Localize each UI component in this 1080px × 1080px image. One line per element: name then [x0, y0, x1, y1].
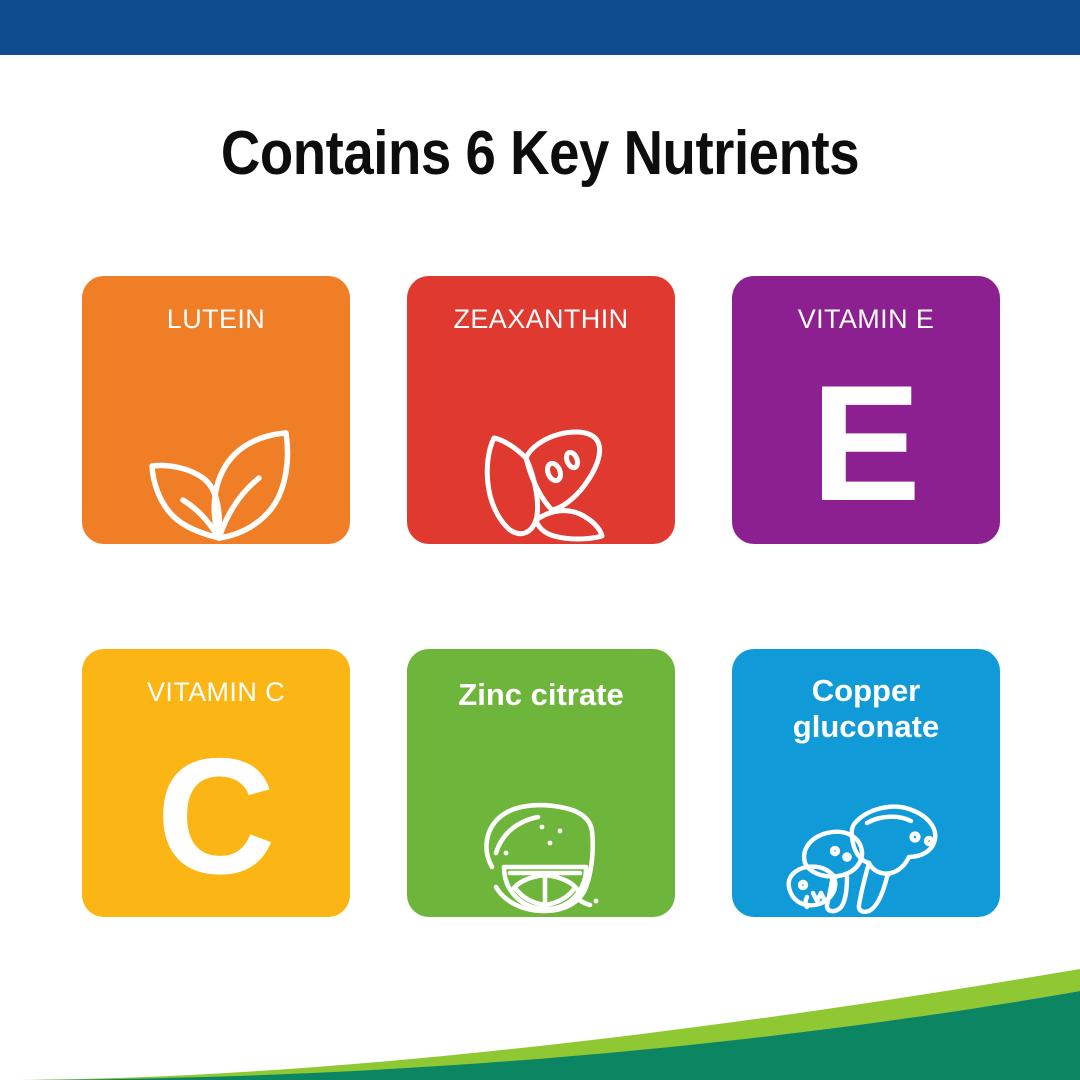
- card-label: VITAMIN C: [82, 677, 350, 708]
- card-label: ZEAXANTHIN: [407, 304, 675, 335]
- nutrient-card-grid: LUTEIN ZEAXANTHIN: [82, 276, 1000, 917]
- infographic-page: Contains 6 Key Nutrients LUTEIN ZEAXANTH…: [0, 0, 1080, 1080]
- top-blue-bar: [0, 0, 1080, 55]
- card-label: VITAMIN E: [732, 304, 1000, 335]
- footer-swoosh: [0, 945, 1080, 1080]
- nutrient-card-zeaxanthin[interactable]: ZEAXANTHIN: [407, 276, 675, 544]
- lemon-slice-icon: [456, 801, 626, 917]
- card-label: Copper gluconate: [732, 673, 1000, 745]
- vitamin-letter: C: [82, 741, 350, 891]
- nutrient-card-lutein[interactable]: LUTEIN: [82, 276, 350, 544]
- nutrient-card-zinc-citrate[interactable]: Zinc citrate: [407, 649, 675, 917]
- card-label: Zinc citrate: [407, 677, 675, 713]
- mushrooms-icon: [781, 801, 951, 917]
- nutrient-card-copper-gluconate[interactable]: Copper gluconate: [732, 649, 1000, 917]
- card-label: LUTEIN: [82, 304, 350, 335]
- page-title: Contains 6 Key Nutrients: [65, 118, 1015, 189]
- leaves-icon: [131, 428, 301, 544]
- paprika-pepper-icon: [456, 428, 626, 544]
- nutrient-card-vitamin-e[interactable]: VITAMIN E E: [732, 276, 1000, 544]
- nutrient-card-vitamin-c[interactable]: VITAMIN C C: [82, 649, 350, 917]
- vitamin-letter: E: [732, 368, 1000, 518]
